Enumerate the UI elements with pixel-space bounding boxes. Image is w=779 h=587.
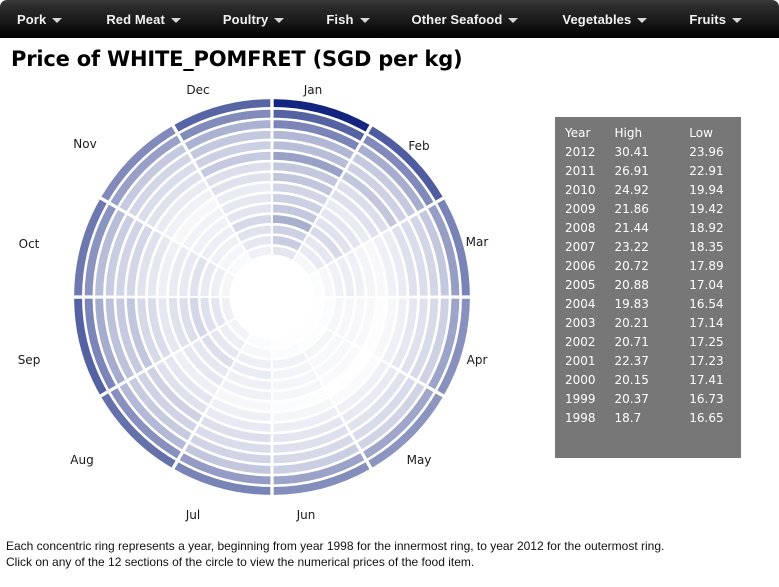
table-row: 200723.2218.35 bbox=[555, 238, 741, 257]
table-cell-high: 24.92 bbox=[615, 181, 690, 200]
radial-price-chart[interactable]: JanFebMarAprMayJunJulAugSepOctNovDec bbox=[0, 80, 545, 530]
table-cell-high: 19.83 bbox=[615, 295, 690, 314]
table-row: 199920.3716.73 bbox=[555, 390, 741, 409]
nav-item-poultry[interactable]: Poultry bbox=[216, 0, 291, 38]
table-header-high: High bbox=[615, 124, 690, 143]
month-label-may: May bbox=[407, 453, 432, 467]
table-cell-low: 16.65 bbox=[689, 409, 741, 428]
chevron-down-icon bbox=[360, 18, 370, 23]
nav-item-fruits[interactable]: Fruits bbox=[682, 0, 749, 38]
nav-item-red-meat[interactable]: Red Meat bbox=[99, 0, 188, 38]
table-cell-high: 21.44 bbox=[615, 219, 690, 238]
month-label-apr: Apr bbox=[467, 353, 488, 367]
main-navigation-bar: PorkRed MeatPoultryFishOther SeafoodVege… bbox=[0, 0, 779, 38]
table-row: 200821.4418.92 bbox=[555, 219, 741, 238]
table-cell-year: 1999 bbox=[555, 390, 615, 409]
table-row: 200620.7217.89 bbox=[555, 257, 741, 276]
chevron-down-icon bbox=[637, 18, 647, 23]
chart-caption: Each concentric ring represents a year, … bbox=[6, 538, 776, 570]
table-cell-year: 2010 bbox=[555, 181, 615, 200]
month-label-oct: Oct bbox=[19, 237, 40, 251]
month-label-aug: Aug bbox=[70, 453, 93, 467]
nav-item-label: Other Seafood bbox=[412, 12, 503, 27]
table-cell-high: 23.22 bbox=[615, 238, 690, 257]
table-cell-year: 2012 bbox=[555, 143, 615, 162]
table-row: 201230.4123.96 bbox=[555, 143, 741, 162]
nav-item-label: Fish bbox=[326, 12, 353, 27]
table-cell-high: 20.15 bbox=[615, 371, 690, 390]
nav-item-label: Poultry bbox=[223, 12, 268, 27]
page-title: Price of WHITE_POMFRET (SGD per kg) bbox=[11, 47, 462, 71]
price-summary-table: Year High Low 201230.4123.96201126.9122.… bbox=[555, 117, 741, 458]
table-cell-high: 22.37 bbox=[615, 352, 690, 371]
table-cell-high: 20.88 bbox=[615, 276, 690, 295]
caption-line-1: Each concentric ring represents a year, … bbox=[6, 538, 776, 554]
table-cell-low: 19.42 bbox=[689, 200, 741, 219]
nav-item-label: Red Meat bbox=[106, 12, 165, 27]
price-table-element: Year High Low 201230.4123.96201126.9122.… bbox=[555, 124, 741, 428]
month-label-dec: Dec bbox=[186, 83, 209, 97]
table-cell-year: 2008 bbox=[555, 219, 615, 238]
table-cell-year: 2004 bbox=[555, 295, 615, 314]
table-cell-high: 20.72 bbox=[615, 257, 690, 276]
month-label-jan: Jan bbox=[304, 83, 323, 97]
table-cell-low: 19.94 bbox=[689, 181, 741, 200]
nav-item-label: Vegetables bbox=[562, 12, 631, 27]
table-cell-year: 1998 bbox=[555, 409, 615, 428]
table-cell-year: 2001 bbox=[555, 352, 615, 371]
table-cell-year: 2007 bbox=[555, 238, 615, 257]
table-row: 200320.2117.14 bbox=[555, 314, 741, 333]
table-header-row: Year High Low bbox=[555, 124, 741, 143]
table-cell-low: 18.35 bbox=[689, 238, 741, 257]
caption-line-2: Click on any of the 12 sections of the c… bbox=[6, 554, 776, 570]
table-row: 200220.7117.25 bbox=[555, 333, 741, 352]
chevron-down-icon bbox=[171, 18, 181, 23]
table-cell-low: 16.54 bbox=[689, 295, 741, 314]
table-cell-low: 17.04 bbox=[689, 276, 741, 295]
month-label-jul: Jul bbox=[186, 508, 200, 522]
table-body: 201230.4123.96201126.9122.91201024.9219.… bbox=[555, 143, 741, 428]
table-cell-high: 20.21 bbox=[615, 314, 690, 333]
chevron-down-icon bbox=[508, 18, 518, 23]
month-label-feb: Feb bbox=[408, 139, 429, 153]
table-cell-year: 2011 bbox=[555, 162, 615, 181]
table-cell-year: 2000 bbox=[555, 371, 615, 390]
chart-center-hub bbox=[230, 255, 314, 339]
table-cell-high: 20.71 bbox=[615, 333, 690, 352]
table-cell-year: 2009 bbox=[555, 200, 615, 219]
table-cell-high: 21.86 bbox=[615, 200, 690, 219]
table-cell-low: 17.23 bbox=[689, 352, 741, 371]
table-row: 201024.9219.94 bbox=[555, 181, 741, 200]
chevron-down-icon bbox=[274, 18, 284, 23]
table-cell-low: 17.89 bbox=[689, 257, 741, 276]
table-cell-low: 22.91 bbox=[689, 162, 741, 181]
month-label-nov: Nov bbox=[73, 137, 96, 151]
table-row: 200921.8619.42 bbox=[555, 200, 741, 219]
table-cell-low: 18.92 bbox=[689, 219, 741, 238]
nav-item-vegetables[interactable]: Vegetables bbox=[555, 0, 654, 38]
table-cell-low: 16.73 bbox=[689, 390, 741, 409]
table-cell-year: 2006 bbox=[555, 257, 615, 276]
table-cell-low: 23.96 bbox=[689, 143, 741, 162]
month-label-mar: Mar bbox=[466, 235, 489, 249]
table-cell-low: 17.25 bbox=[689, 333, 741, 352]
table-cell-low: 17.14 bbox=[689, 314, 741, 333]
nav-item-label: Pork bbox=[17, 12, 46, 27]
table-cell-high: 30.41 bbox=[615, 143, 690, 162]
month-label-sep: Sep bbox=[18, 353, 41, 367]
table-row: 201126.9122.91 bbox=[555, 162, 741, 181]
table-row: 200520.8817.04 bbox=[555, 276, 741, 295]
table-row: 200020.1517.41 bbox=[555, 371, 741, 390]
table-cell-year: 2005 bbox=[555, 276, 615, 295]
table-cell-year: 2003 bbox=[555, 314, 615, 333]
chevron-down-icon bbox=[52, 18, 62, 23]
table-header-low: Low bbox=[689, 124, 741, 143]
table-cell-high: 20.37 bbox=[615, 390, 690, 409]
table-row: 200419.8316.54 bbox=[555, 295, 741, 314]
table-row: 199818.716.65 bbox=[555, 409, 741, 428]
table-cell-high: 18.7 bbox=[615, 409, 690, 428]
nav-item-other-seafood[interactable]: Other Seafood bbox=[405, 0, 526, 38]
table-cell-year: 2002 bbox=[555, 333, 615, 352]
nav-item-fish[interactable]: Fish bbox=[319, 0, 376, 38]
table-cell-low: 17.41 bbox=[689, 371, 741, 390]
chevron-down-icon bbox=[732, 18, 742, 23]
table-row: 200122.3717.23 bbox=[555, 352, 741, 371]
nav-item-label: Fruits bbox=[689, 12, 726, 27]
table-cell-high: 26.91 bbox=[615, 162, 690, 181]
month-label-jun: Jun bbox=[297, 508, 316, 522]
table-header-year: Year bbox=[555, 124, 615, 143]
nav-item-pork[interactable]: Pork bbox=[10, 0, 69, 38]
